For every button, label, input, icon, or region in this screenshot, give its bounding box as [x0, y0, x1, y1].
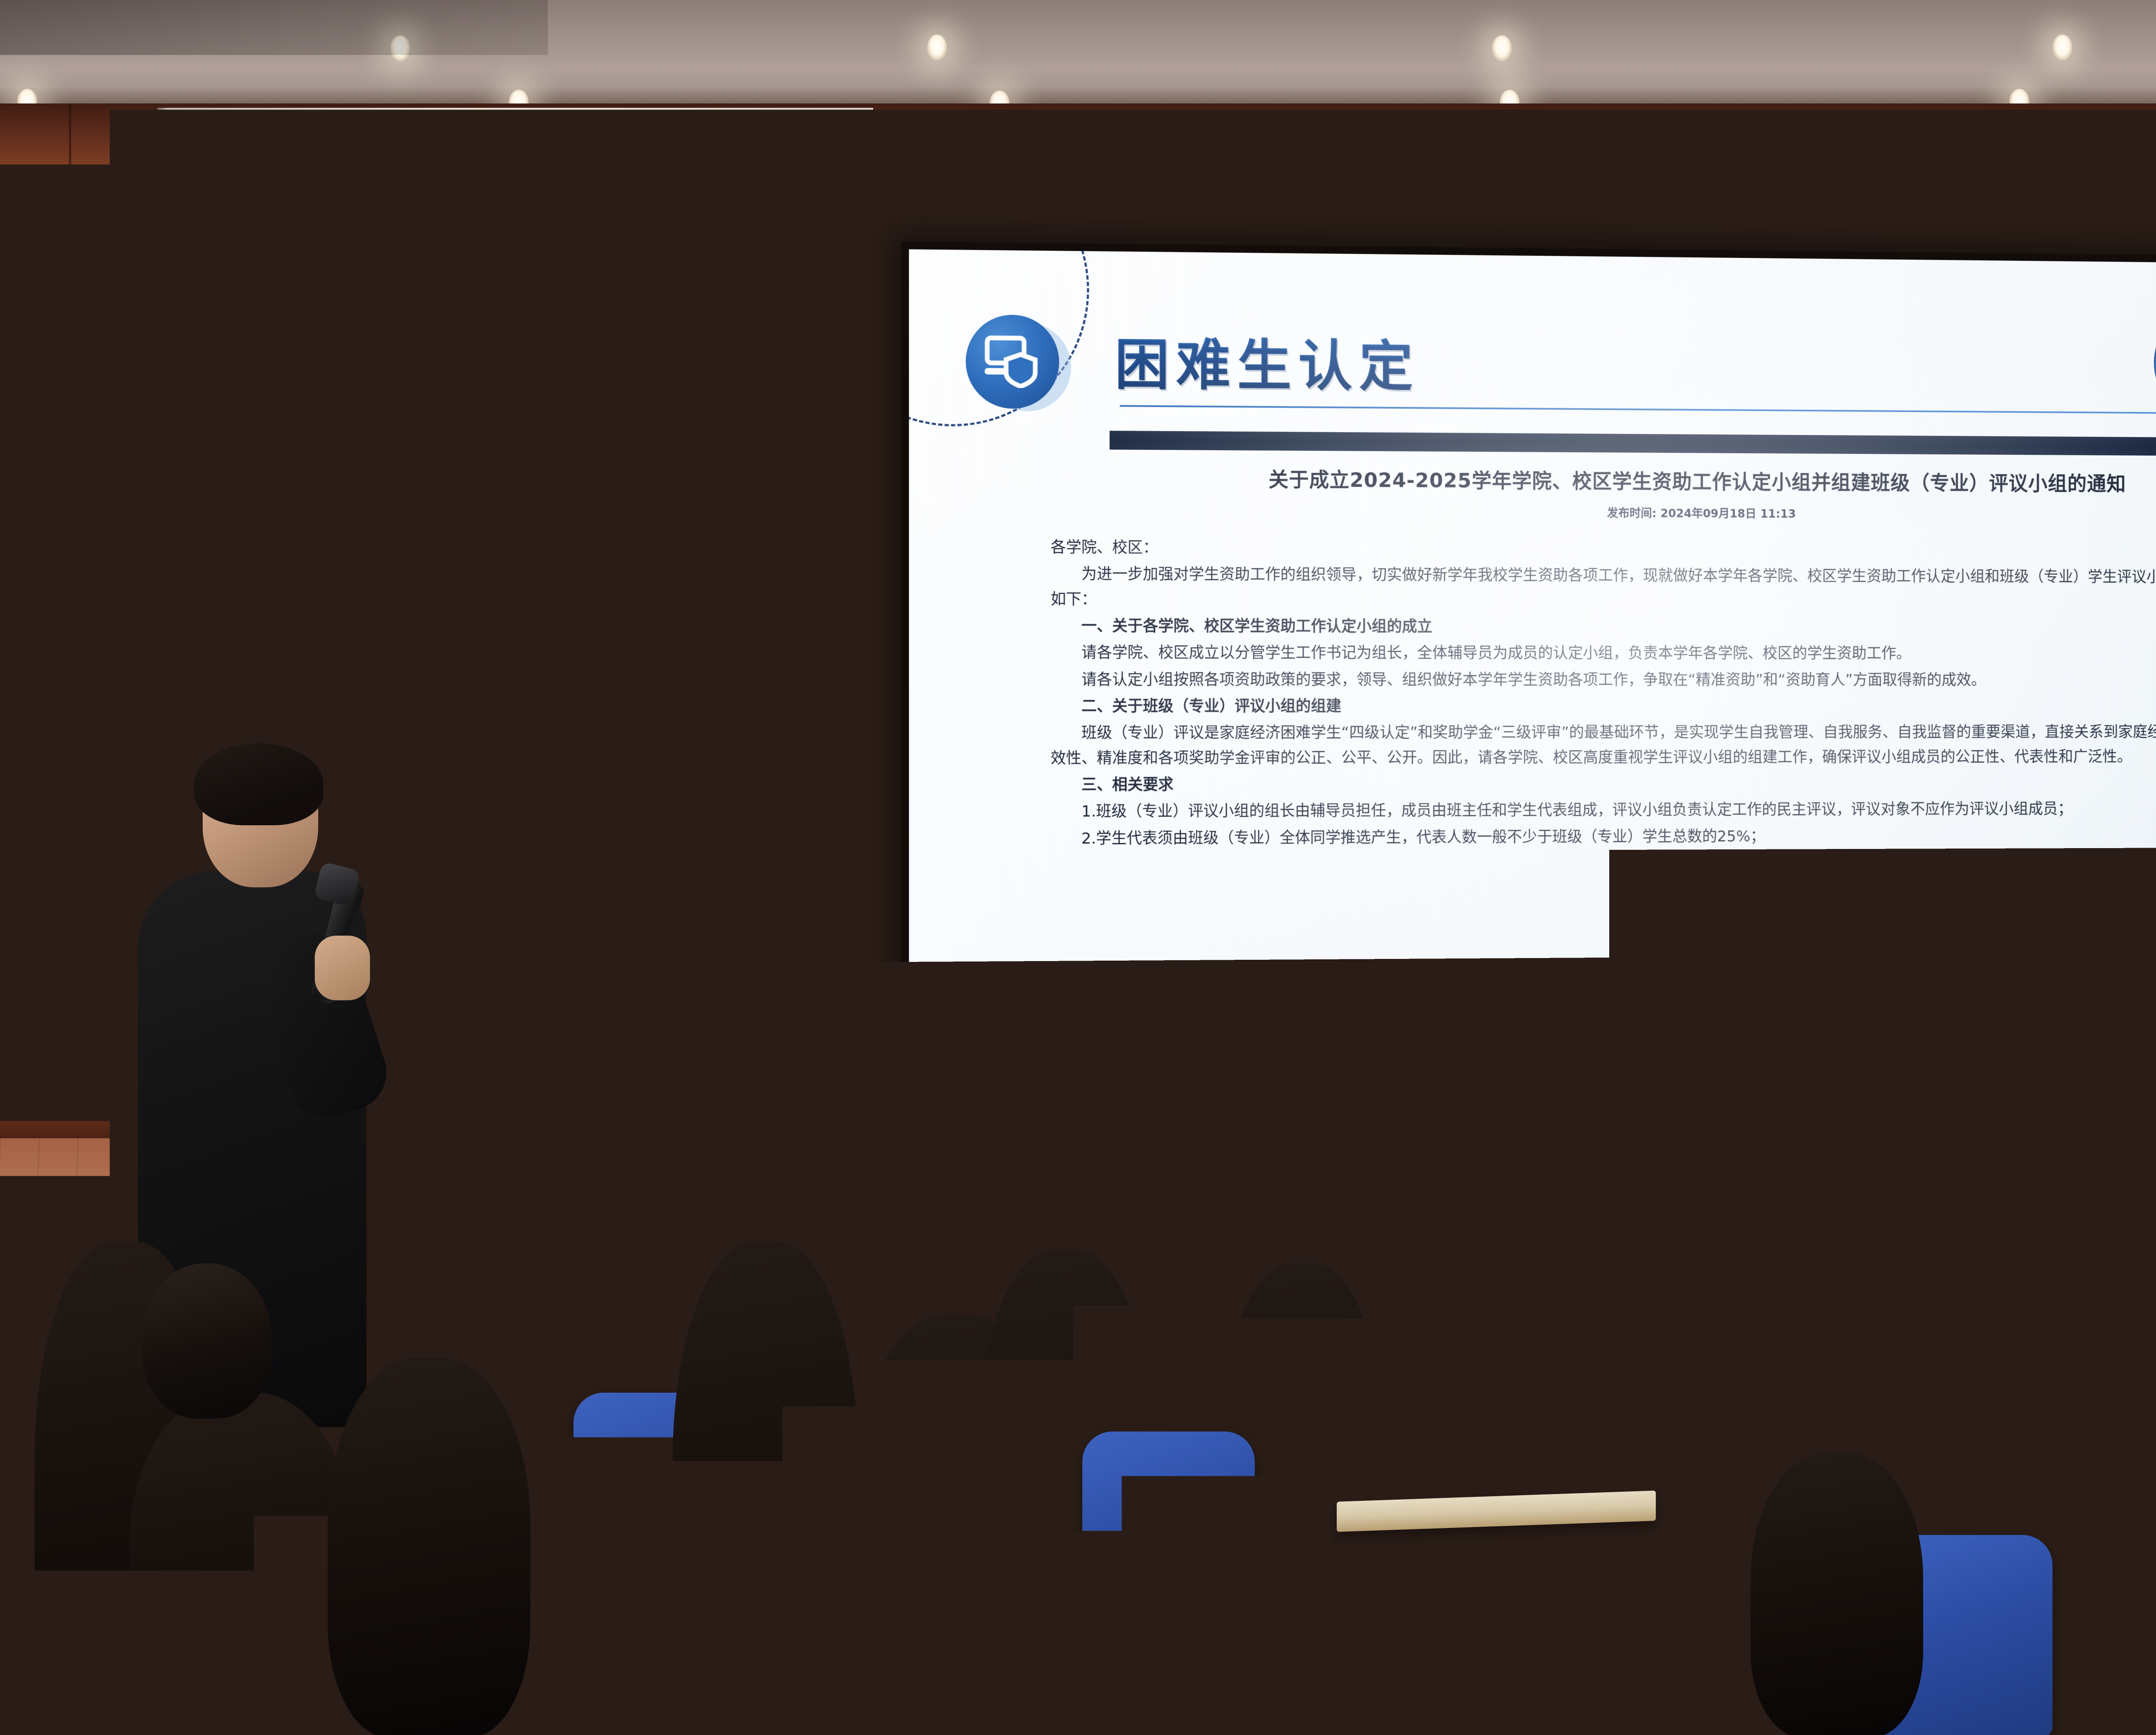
- qust-university-logo: UST 1950: [2153, 313, 2156, 413]
- document-section-heading: 一、关于各学院、校区学生资助工作认定小组的成立: [1050, 614, 2156, 641]
- audience-head: [1751, 1453, 1923, 1735]
- document-paragraph: 请各学院、校区成立以分管学生工作书记为组长，全体辅导员为成员的认定小组，负责本学…: [1050, 641, 2156, 667]
- document-section-heading: 二、关于班级（专业）评议小组的组建: [1050, 694, 2156, 719]
- audience-head: [1544, 1371, 1716, 1613]
- logo-row: UST 1950: [2153, 313, 2156, 414]
- header-navy-bar: [1109, 431, 2156, 457]
- document-paragraph: 为进一步加强对学生资助工作的组织领导，切实做好新学年我校学生资助各项工作，现就做…: [1050, 562, 2156, 614]
- document-paragraph: 2.学生代表须由班级（专业）全体同学推选产生，代表人数一般不少于班级（专业）学生…: [1050, 823, 2156, 852]
- document-published-meta: 发布时间: 2024年09月18日 11:13: [1050, 501, 2156, 523]
- document-paragraph: 班级（专业）评议是家庭经济困难学生“四级认定”和奖助学金“三级评审”的最基础环节…: [1050, 720, 2156, 771]
- document-section-heading: 三、相关要求: [1050, 770, 2156, 798]
- audience-head: [328, 1358, 530, 1735]
- audience-head: [142, 1263, 272, 1419]
- published-value: 2024年09月18日 11:13: [1661, 507, 1796, 521]
- document-paragraph-list: 为进一步加强对学生资助工作的组织领导，切实做好新学年我校学生资助各项工作，现就做…: [1050, 562, 2156, 851]
- ceiling-downlight: [1492, 35, 1512, 61]
- title-divider-rule: [1120, 405, 2156, 415]
- document-title: 关于成立2024-2025学年学院、校区学生资助工作认定小组并组建班级（专业）评…: [1050, 466, 2156, 498]
- published-label: 发布时间:: [1607, 507, 1657, 520]
- laptop-shield-icon: [966, 314, 1059, 409]
- document-body: 各学院、校区： 为进一步加强对学生资助工作的组织领导，切实做好新学年我校学生资助…: [1050, 535, 2156, 851]
- slide-title: 困难生认定: [1115, 320, 1420, 401]
- ceiling-downlight: [927, 34, 947, 60]
- lecture-hall-photo: 困难生认定 UST 1950: [0, 0, 2156, 1735]
- audience-shirt: [867, 1496, 1108, 1735]
- document-salutation: 各学院、校区：: [1050, 535, 2156, 564]
- document-content: 关于成立2024-2025学年学院、校区学生资助工作认定小组并组建班级（专业）评…: [1050, 466, 2156, 853]
- presenter-hand: [315, 936, 370, 1000]
- presenter-hair: [194, 743, 323, 825]
- projection-screen[interactable]: 困难生认定 UST 1950: [901, 241, 2156, 1151]
- presentation-slide: 困难生认定 UST 1950: [909, 249, 2156, 1143]
- document-paragraph: 请各认定小组按照各项资助政策的要求，领导、组织做好本学年学生资助各项工作，争取在…: [1050, 667, 2156, 692]
- ceiling-downlight: [2053, 34, 2072, 60]
- audience-head: [129, 1393, 354, 1735]
- document-paragraph: 1.班级（专业）评议小组的组长由辅导员担任，成员由班主任和学生代表组成，评议小组…: [1050, 796, 2156, 824]
- wall-panel-seam: [69, 103, 71, 1207]
- ceiling-downlight: [390, 35, 410, 61]
- audience-head: [673, 1242, 858, 1735]
